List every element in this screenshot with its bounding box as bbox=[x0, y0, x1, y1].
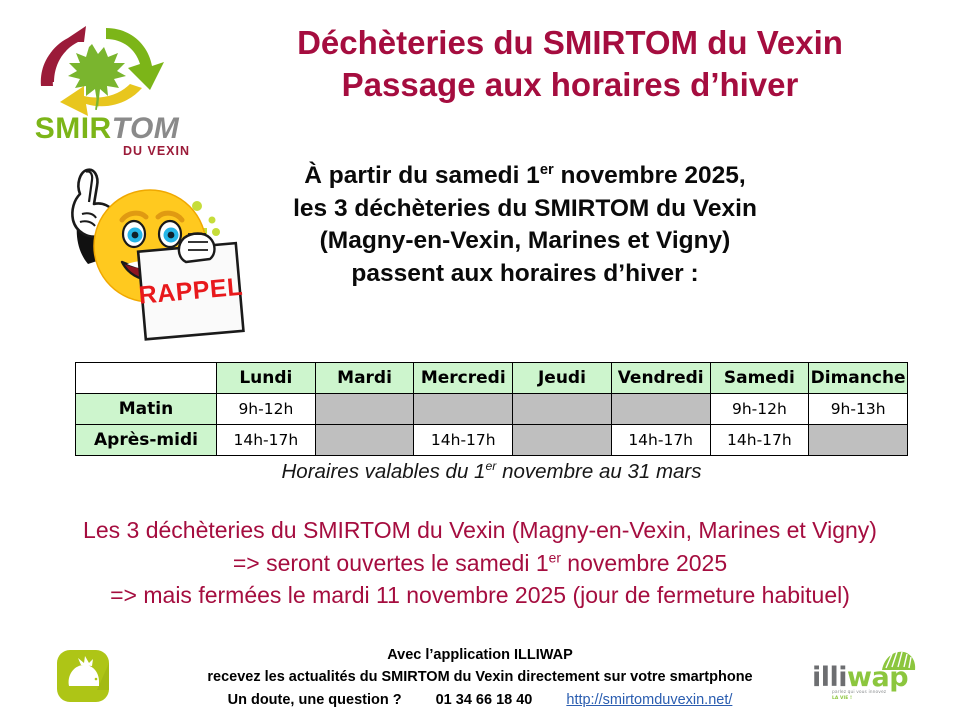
cell-matin-mercredi bbox=[414, 394, 513, 425]
notice-line-1: Les 3 déchèteries du SMIRTOM du Vexin (M… bbox=[20, 514, 940, 547]
notice-paragraph: Les 3 déchèteries du SMIRTOM du Vexin (M… bbox=[20, 514, 940, 612]
table-corner-cell bbox=[76, 363, 217, 394]
table-caption: Horaires valables du 1er novembre au 31 … bbox=[75, 460, 908, 484]
footer-text-block: Avec l’application ILLIWAP recevez les a… bbox=[150, 644, 810, 711]
table-row-matin: Matin 9h-12h 9h-12h 9h-13h bbox=[76, 394, 908, 425]
intro-paragraph: À partir du samedi 1er novembre 2025, le… bbox=[240, 160, 810, 290]
notice-line-2-after: novembre 2025 bbox=[561, 550, 727, 576]
cell-apresmidi-mercredi: 14h-17h bbox=[414, 425, 513, 456]
table-caption-superscript: er bbox=[485, 459, 496, 473]
table-caption-after: novembre au 31 mars bbox=[496, 460, 701, 483]
table-header-dimanche: Dimanche bbox=[809, 363, 908, 394]
smirtom-recycling-leaf-icon bbox=[22, 16, 184, 120]
notice-line-3: => mais fermées le mardi 11 novembre 202… bbox=[20, 579, 940, 612]
intro-line-1-after: novembre 2025, bbox=[554, 162, 746, 189]
table-header-mercredi: Mercredi bbox=[414, 363, 513, 394]
cell-apresmidi-mardi bbox=[315, 425, 414, 456]
notice-line-2: => seront ouvertes le samedi 1er novembr… bbox=[20, 547, 940, 580]
table-header-lundi: Lundi bbox=[217, 363, 316, 394]
cell-apresmidi-dimanche bbox=[809, 425, 908, 456]
illiwap-wordmark: illiwap bbox=[812, 664, 908, 691]
table-header-samedi: Samedi bbox=[710, 363, 809, 394]
smirtom-wordmark-part1: SMIR bbox=[35, 112, 112, 145]
footer-question-label: Un doute, une question ? bbox=[228, 692, 402, 708]
notice-line-2-before: => seront ouvertes le samedi 1 bbox=[233, 550, 549, 576]
intro-line-1: À partir du samedi 1er novembre 2025, bbox=[240, 160, 810, 193]
illiwap-wordmark-grey: illi bbox=[812, 662, 847, 693]
intro-line-4: passent aux horaires d’hiver : bbox=[240, 258, 810, 291]
cell-matin-vendredi bbox=[611, 394, 710, 425]
intro-line-3: (Magny-en-Vexin, Marines et Vigny) bbox=[240, 225, 810, 258]
cell-apresmidi-lundi: 14h-17h bbox=[217, 425, 316, 456]
cell-matin-dimanche: 9h-13h bbox=[809, 394, 908, 425]
smirtom-logo-subtitle: DU VEXIN bbox=[30, 144, 190, 158]
page-title: Déchèteries du SMIRTOM du Vexin Passage … bbox=[190, 22, 950, 106]
page-title-line-1: Déchèteries du SMIRTOM du Vexin bbox=[190, 22, 950, 64]
footer: Avec l’application ILLIWAP recevez les a… bbox=[0, 640, 960, 720]
table-row-apres-midi: Après-midi 14h-17h 14h-17h 14h-17h 14h-1… bbox=[76, 425, 908, 456]
footer-line-2: recevez les actualités du SMIRTOM du Vex… bbox=[150, 666, 810, 688]
illiwap-wordmark-green: wap bbox=[847, 662, 908, 693]
cell-matin-jeudi bbox=[513, 394, 612, 425]
illiwap-logo: illiwap parlez qui vous innovez LA VIE ! bbox=[808, 648, 926, 710]
illiwap-tagline-line-1: parlez qui vous innovez bbox=[832, 690, 886, 696]
intro-line-1-superscript: er bbox=[540, 162, 554, 178]
illiwap-tagline: parlez qui vous innovez LA VIE ! bbox=[832, 690, 886, 701]
cell-apresmidi-jeudi bbox=[513, 425, 612, 456]
intro-line-2: les 3 déchèteries du SMIRTOM du Vexin bbox=[240, 193, 810, 226]
cell-matin-samedi: 9h-12h bbox=[710, 394, 809, 425]
footer-line-1: Avec l’application ILLIWAP bbox=[150, 644, 810, 666]
smirtom-wordmark-part2: TOM bbox=[112, 112, 180, 145]
illiwap-tagline-line-2: LA VIE ! bbox=[832, 696, 886, 702]
table-row-label-apres-midi: Après-midi bbox=[76, 425, 217, 456]
notice-line-2-superscript: er bbox=[549, 550, 561, 565]
table-caption-before: Horaires valables du 1 bbox=[281, 460, 485, 483]
footer-website-link[interactable]: http://smirtomduvexin.net/ bbox=[566, 692, 732, 708]
opening-hours-table: Lundi Mardi Mercredi Jeudi Vendredi Same… bbox=[75, 362, 908, 456]
cell-apresmidi-vendredi: 14h-17h bbox=[611, 425, 710, 456]
page-title-line-2: Passage aux horaires d’hiver bbox=[190, 64, 950, 106]
footer-contact-line: Un doute, une question ?01 34 66 18 40ht… bbox=[150, 689, 810, 711]
smirtom-logo: SMIRTOM DU VEXIN bbox=[22, 16, 184, 158]
table-header-mardi: Mardi bbox=[315, 363, 414, 394]
footer-phone-number: 01 34 66 18 40 bbox=[436, 692, 533, 708]
smirtom-wordmark: SMIRTOM bbox=[30, 114, 184, 144]
cell-matin-mardi bbox=[315, 394, 414, 425]
intro-line-1-before: À partir du samedi 1 bbox=[304, 162, 540, 189]
table-header-row: Lundi Mardi Mercredi Jeudi Vendredi Same… bbox=[76, 363, 908, 394]
illiwap-app-icon bbox=[57, 650, 109, 702]
cell-apresmidi-samedi: 14h-17h bbox=[710, 425, 809, 456]
table-header-jeudi: Jeudi bbox=[513, 363, 612, 394]
table-row-label-matin: Matin bbox=[76, 394, 217, 425]
cell-matin-lundi: 9h-12h bbox=[217, 394, 316, 425]
table-header-vendredi: Vendredi bbox=[611, 363, 710, 394]
